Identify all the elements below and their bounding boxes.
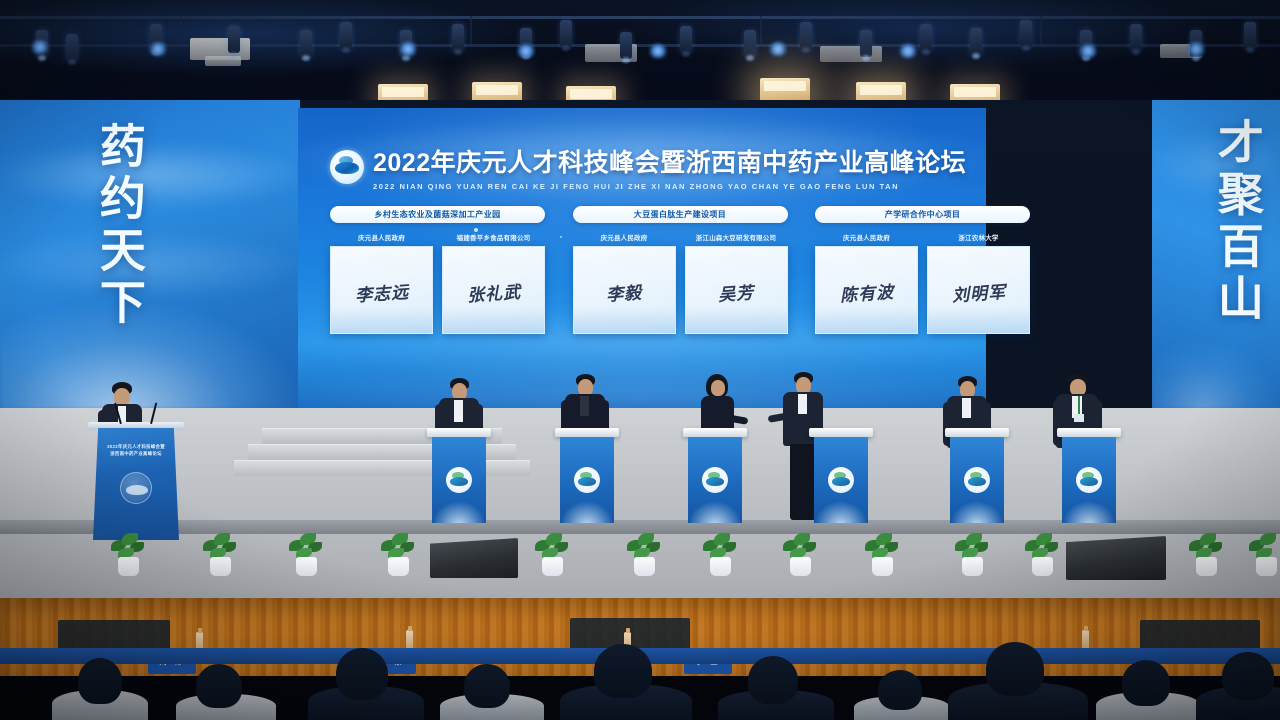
audience-member	[878, 670, 922, 710]
qingyuan-summit-logo-icon	[330, 150, 364, 184]
stage-light-fixture	[228, 26, 240, 53]
truss-strut	[1040, 16, 1042, 44]
potted-plant	[1246, 530, 1280, 576]
desk-emblem-icon	[1076, 467, 1102, 493]
signature-card: 李志远	[330, 246, 433, 334]
handwritten-signature: 李志远	[354, 277, 410, 306]
potted-plant	[532, 530, 572, 576]
project-org-row: 庆元县人民政府 福建香平乡食品有限公司	[330, 232, 545, 242]
desk-emblem-icon	[828, 467, 854, 493]
party-org-name: 庆元县人民政府	[573, 232, 676, 242]
blue-spotlight-glow	[1186, 42, 1206, 56]
potted-plant	[378, 530, 418, 576]
desk-emblem-icon	[964, 467, 990, 493]
blue-spotlight-glow	[1078, 44, 1098, 58]
stage-light-fixture	[620, 32, 632, 59]
signature-card: 吴芳	[685, 246, 788, 334]
signature-card-row: 李毅 吴芳	[573, 246, 788, 334]
stage-light-fixture	[452, 24, 464, 51]
stage-floor-monitor	[1066, 536, 1166, 580]
blue-spotlight-glow	[398, 42, 418, 56]
potted-plant	[700, 530, 740, 576]
ceiling-equipment-box	[820, 46, 882, 62]
stage-light-fixture	[1130, 24, 1142, 51]
handwritten-signature: 张礼武	[466, 277, 522, 306]
potted-plant	[780, 530, 820, 576]
audience-member	[78, 658, 122, 704]
audience-member	[1122, 660, 1170, 706]
event-title-pinyin: 2022 NIAN QING YUAN REN CAI KE JI FENG H…	[373, 182, 966, 191]
audience-member	[1222, 652, 1274, 700]
desk-emblem-icon	[446, 467, 472, 493]
project-column: 产学研合作中心项目 庆元县人民政府 浙江农林大学 陈有波 刘明军	[815, 206, 1030, 366]
podium-emblem-icon	[120, 472, 152, 504]
audience-member	[986, 642, 1044, 696]
project-org-row: 庆元县人民政府 浙江山森大豆研发有限公司	[573, 232, 788, 242]
potted-plant	[624, 530, 664, 576]
stage-light-fixture	[66, 34, 78, 61]
project-column: 大豆蛋白肽生产建设项目 庆元县人民政府 浙江山森大豆研发有限公司 李毅 吴芳	[573, 206, 788, 366]
audience-member	[464, 664, 510, 708]
right-led-banner: 才聚百山	[1152, 100, 1280, 410]
potted-plant	[952, 530, 992, 576]
foam-texture	[0, 300, 300, 410]
desk-emblem-icon	[702, 467, 728, 493]
event-headline: 2022年庆元人才科技峰会暨浙西南中药产业高峰论坛 2022 NIAN QING…	[330, 144, 970, 190]
stage-light-fixture	[860, 30, 872, 57]
truss-strut	[760, 16, 762, 44]
blue-spotlight-glow	[30, 40, 50, 54]
signature-card: 陈有波	[815, 246, 918, 334]
signature-card: 张礼武	[442, 246, 545, 334]
signing-projects-panel: 乡村生态农业及菌菇深加工产业园 庆元县人民政府 福建香平乡食品有限公司 李志远 …	[330, 206, 1030, 366]
audience-member	[196, 664, 242, 708]
truss-beam	[0, 16, 1280, 19]
handwritten-signature: 陈有波	[839, 277, 895, 306]
stage-light-fixture	[560, 20, 572, 47]
lanyard	[1078, 396, 1080, 414]
stage-light-fixture	[920, 24, 932, 51]
potted-plant	[1022, 530, 1062, 576]
signature-card-row: 陈有波 刘明军	[815, 246, 1030, 334]
signature-card: 刘明军	[927, 246, 1030, 334]
badge-card	[1074, 414, 1084, 422]
stage-light-fixture	[970, 28, 982, 55]
blue-spotlight-glow	[768, 42, 788, 56]
potted-plant	[862, 530, 902, 576]
project-org-row: 庆元县人民政府 浙江农林大学	[815, 232, 1030, 242]
project-label: 大豆蛋白肽生产建设项目	[573, 206, 788, 223]
handwritten-signature: 刘明军	[951, 277, 1007, 306]
blue-spotlight-glow	[898, 44, 918, 58]
podium-title-line1: 2022年庆元人才科技峰会暨	[93, 444, 179, 450]
stage-light-fixture	[1020, 20, 1032, 47]
potted-plant	[200, 530, 240, 576]
ceiling-equipment-box	[205, 56, 241, 66]
blue-spotlight-glow	[516, 44, 536, 58]
project-label: 乡村生态农业及菌菇深加工产业园	[330, 206, 545, 223]
potted-plant	[286, 530, 326, 576]
project-label: 产学研合作中心项目	[815, 206, 1030, 223]
audience-member	[336, 648, 388, 700]
truss-strut	[180, 16, 182, 44]
ceiling-truss-area	[0, 0, 1280, 112]
stage-light-fixture	[340, 22, 352, 49]
audience-member	[748, 656, 798, 704]
signature-card-row: 李志远 张礼武	[330, 246, 545, 334]
party-org-name: 浙江农林大学	[927, 232, 1030, 242]
podium-title-line2: 浙西南中药产业高峰论坛	[93, 451, 179, 457]
foam-texture	[1152, 340, 1280, 410]
blue-spotlight-glow	[648, 44, 668, 58]
party-org-name: 浙江山森大豆研发有限公司	[685, 232, 788, 242]
stage-light-fixture	[300, 30, 312, 57]
party-org-name: 庆元县人民政府	[815, 232, 918, 242]
stage-scene-photo: 药约天下 才聚百山 2022年庆元人才科技峰会暨浙西南中药产业高峰论坛 2022…	[0, 0, 1280, 720]
handwritten-signature: 李毅	[605, 278, 643, 305]
signature-card: 李毅	[573, 246, 676, 334]
stage-light-fixture	[744, 30, 756, 57]
left-led-banner: 药约天下	[0, 100, 300, 410]
blue-spotlight-glow	[148, 42, 168, 56]
party-org-name: 庆元县人民政府	[330, 232, 433, 242]
potted-plant	[108, 530, 148, 576]
stage-light-fixture	[800, 22, 812, 49]
handwritten-signature: 吴芳	[717, 278, 755, 305]
left-banner-text: 药约天下	[96, 122, 143, 330]
event-title: 2022年庆元人才科技峰会暨浙西南中药产业高峰论坛	[373, 143, 966, 179]
right-banner-text: 才聚百山	[1214, 118, 1261, 326]
audience-member	[594, 644, 652, 698]
desk-emblem-icon	[574, 467, 600, 493]
party-org-name: 福建香平乡食品有限公司	[442, 232, 545, 242]
speaker-podium: 2022年庆元人才科技峰会暨 浙西南中药产业高峰论坛	[93, 428, 179, 540]
project-column: 乡村生态农业及菌菇深加工产业园 庆元县人民政府 福建香平乡食品有限公司 李志远 …	[330, 206, 545, 366]
truss-strut	[470, 16, 472, 44]
stage-light-fixture	[680, 26, 692, 53]
stage-light-fixture	[1244, 22, 1256, 49]
potted-plant	[1186, 530, 1226, 576]
stage-floor-monitor	[430, 538, 518, 578]
